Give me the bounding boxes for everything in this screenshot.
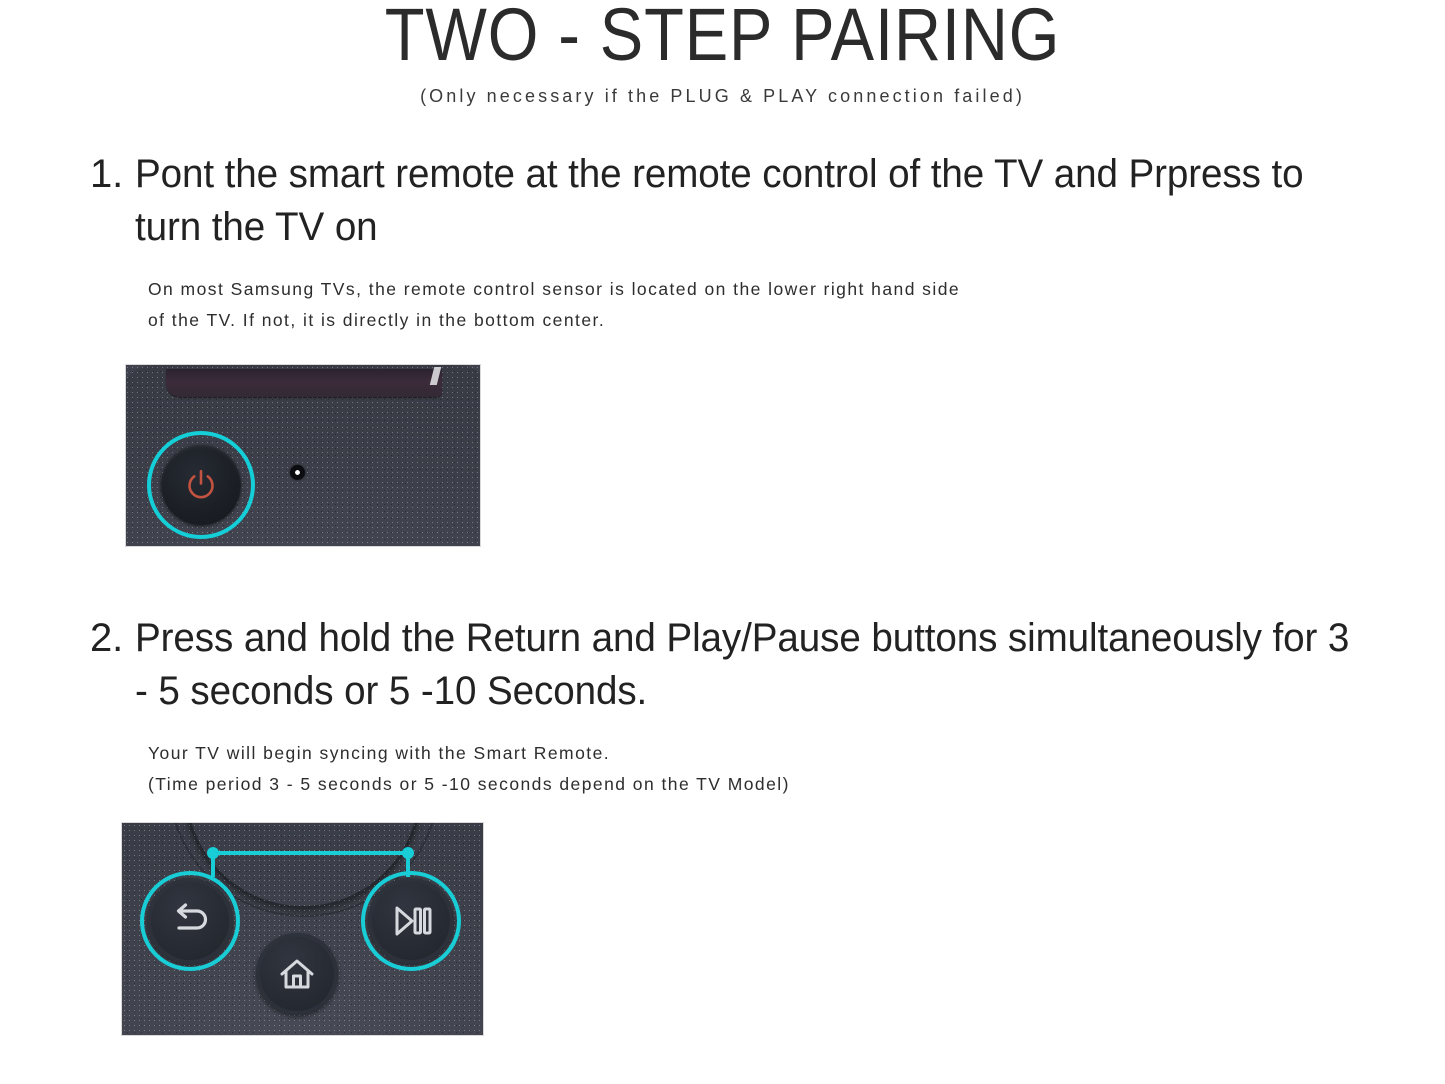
step-1-number: 1. bbox=[90, 148, 135, 201]
highlight-connector-dot-left bbox=[207, 847, 219, 859]
page-title: TWO - STEP PAIRING bbox=[87, 0, 1359, 77]
step-1-subtext-line-2: of the TV. If not, it is directly in the… bbox=[148, 305, 1400, 336]
step-1-block: 1. Pont the smart remote at the remote c… bbox=[90, 148, 1400, 336]
step-2-subtext: Your TV will begin syncing with the Smar… bbox=[148, 738, 1400, 800]
step-1-subtext-line-1: On most Samsung TVs, the remote control … bbox=[148, 274, 1400, 305]
remote-body bbox=[126, 365, 480, 546]
highlight-connector-dot-right bbox=[402, 847, 414, 859]
home-button[interactable] bbox=[256, 933, 338, 1015]
return-button-highlight-ring bbox=[140, 871, 240, 971]
step-2-block: 2. Press and hold the Return and Play/Pa… bbox=[90, 612, 1400, 800]
step-2-subtext-line-2: (Time period 3 - 5 seconds or 5 -10 seco… bbox=[148, 769, 1400, 800]
led-dot-icon bbox=[290, 465, 305, 480]
ir-window-band bbox=[166, 369, 442, 397]
step-2-subtext-line-1: Your TV will begin syncing with the Smar… bbox=[148, 738, 1400, 769]
step-2-number: 2. bbox=[90, 612, 135, 665]
remote-body bbox=[122, 823, 483, 1035]
power-button-group bbox=[147, 431, 255, 539]
step-2-title: Press and hold the Return and Play/Pause… bbox=[135, 612, 1356, 718]
home-icon bbox=[276, 953, 318, 995]
step-1-heading: 1. Pont the smart remote at the remote c… bbox=[90, 148, 1400, 254]
power-button-highlight-ring bbox=[147, 431, 255, 539]
step-1-title: Pont the smart remote at the remote cont… bbox=[135, 148, 1356, 254]
page-subtitle: (Only necessary if the PLUG & PLAY conne… bbox=[0, 86, 1445, 107]
step-1-subtext: On most Samsung TVs, the remote control … bbox=[148, 274, 1400, 336]
step-2-heading: 2. Press and hold the Return and Play/Pa… bbox=[90, 612, 1400, 718]
play-pause-button-highlight-ring bbox=[361, 871, 461, 971]
highlight-connector-line bbox=[211, 851, 410, 855]
step-1-remote-image bbox=[126, 365, 480, 546]
step-2-remote-image bbox=[122, 823, 483, 1035]
